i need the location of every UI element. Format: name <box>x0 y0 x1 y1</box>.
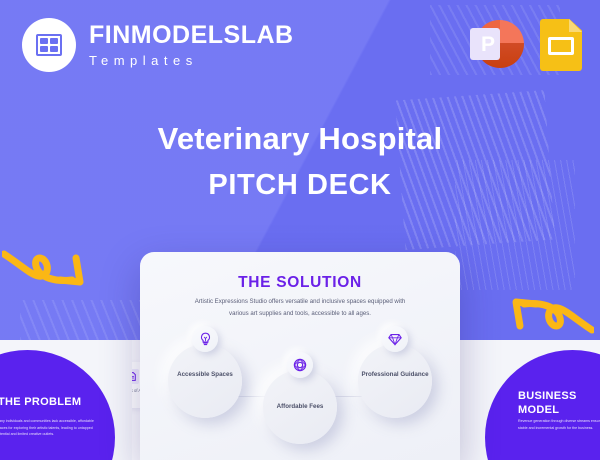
logo-circle <box>22 18 76 72</box>
target-glyph <box>293 358 307 372</box>
title-block: Veterinary Hospital PITCH DECK <box>0 120 600 202</box>
format-icons: P <box>470 18 582 72</box>
diamond-glyph <box>388 333 402 346</box>
brand-name: FINMODELSLAB <box>89 23 294 48</box>
document-glyph <box>132 372 136 381</box>
header: FINMODELSLAB Templates P <box>0 0 600 90</box>
powerpoint-badge: P <box>470 28 500 60</box>
target-icon <box>287 352 313 378</box>
business-body: Revenue generation through diverse strea… <box>518 418 600 431</box>
page-title: Veterinary Hospital <box>0 120 600 159</box>
solution-slide-card[interactable]: THE SOLUTION Artistic Expressions Studio… <box>140 252 460 460</box>
solution-item-accessible-spaces[interactable]: Accessible Spaces <box>168 344 242 418</box>
problem-body: Many individuals and communities lack ac… <box>0 418 102 438</box>
powerpoint-letter: P <box>481 34 495 55</box>
solution-item-label: Affordable Fees <box>263 402 337 412</box>
brand-logo[interactable]: FINMODELSLAB Templates <box>22 18 294 72</box>
solution-item-label: Professional Guidance <box>358 370 432 380</box>
brand-text: FINMODELSLAB Templates <box>89 23 294 67</box>
slide-preview-canvas: FINMODELSLAB Templates P Veterinary Hosp… <box>0 0 600 460</box>
problem-title: THE PROBLEM <box>0 396 108 410</box>
diamond-icon <box>382 326 408 352</box>
slides-screen-glyph <box>548 37 574 55</box>
google-slides-icon[interactable] <box>540 19 582 71</box>
solution-item-professional-guidance[interactable]: Professional Guidance <box>358 344 432 418</box>
solution-item-affordable-fees[interactable]: Affordable Fees <box>263 370 337 444</box>
solution-item-label: Accessible Spaces <box>168 370 242 380</box>
lightbulb-glyph <box>199 332 212 346</box>
slide-thumbnail-business[interactable]: BUSINESS MODEL Revenue generation throug… <box>450 340 600 460</box>
document-icon <box>132 369 139 384</box>
grid-icon <box>36 34 62 56</box>
solution-body: Artistic Expressions Studio offers versa… <box>192 296 408 320</box>
lightbulb-icon <box>192 326 218 352</box>
page-subtitle: PITCH DECK <box>0 169 600 202</box>
powerpoint-icon[interactable]: P <box>470 18 524 72</box>
brand-tagline: Templates <box>89 54 294 67</box>
business-title: BUSINESS MODEL <box>518 390 600 418</box>
slide-thumbnail-problem[interactable]: THE PROBLEM Many individuals and communi… <box>0 340 150 460</box>
solution-heading: THE SOLUTION <box>140 274 460 292</box>
wavy-arrow-left-icon <box>2 240 98 310</box>
